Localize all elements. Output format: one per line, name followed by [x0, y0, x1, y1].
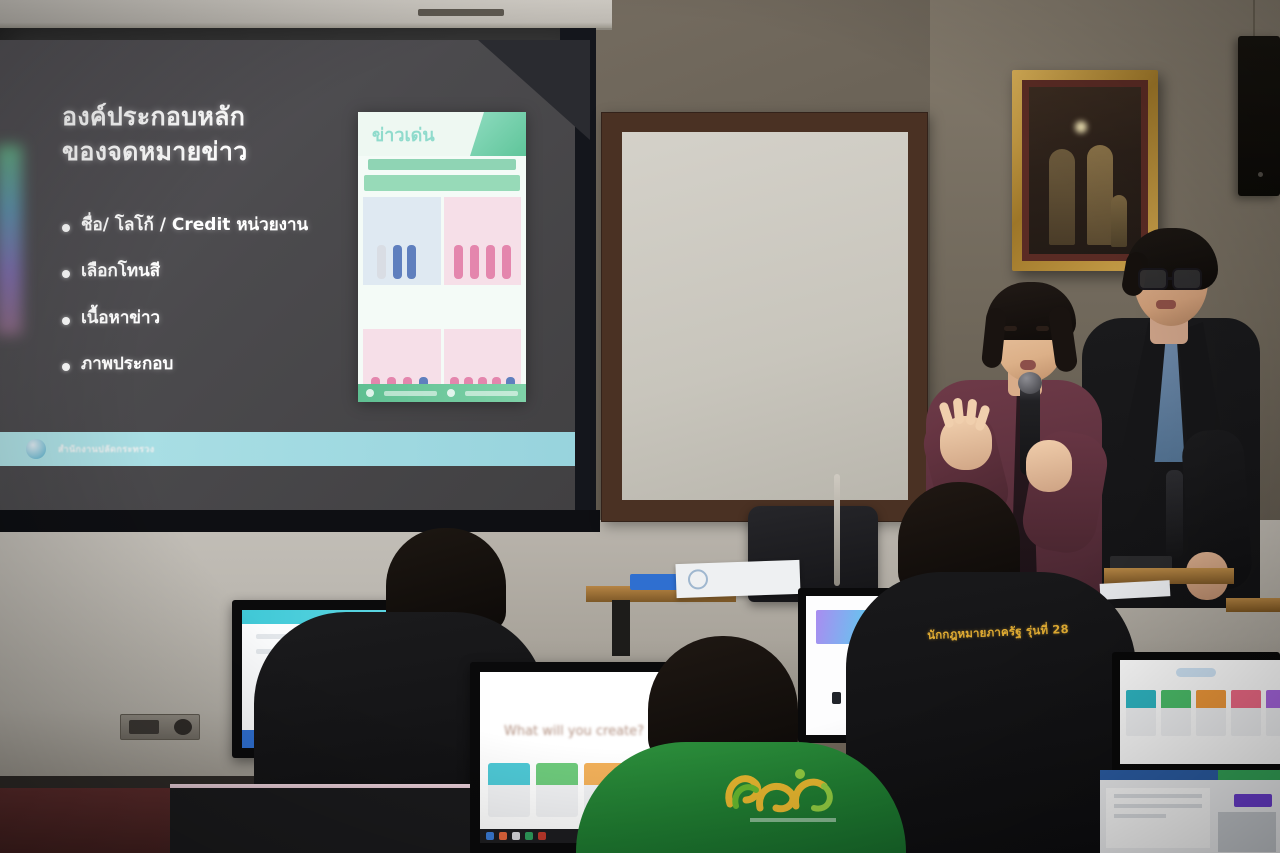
portrait-figure: [1111, 195, 1127, 247]
photo-figure: [393, 245, 402, 279]
footer-line: [384, 391, 437, 396]
search-pill[interactable]: [1176, 668, 1216, 677]
paper-stack: [675, 560, 800, 598]
document-line: [1114, 814, 1166, 818]
jacket-logo-icon: [716, 760, 866, 830]
slide-bullet-text: ภาพประกอบ: [81, 354, 173, 375]
newsletter-section-bar: [364, 175, 520, 191]
side-panel: [1218, 812, 1276, 852]
speaker-hand-right: [1026, 440, 1072, 492]
speaker-cable: [1253, 0, 1255, 38]
slide-bullet-item: เลือกโทนสี: [62, 261, 382, 282]
photo-figure: [470, 245, 479, 279]
slide-title-line-2: ของจดหมายข่าว: [62, 135, 362, 170]
monitor-5-screen[interactable]: [1100, 770, 1280, 853]
newsletter-divider: [368, 159, 516, 170]
photo-figure: [377, 245, 386, 279]
document-line: [1114, 804, 1202, 808]
slide-footer-band: สำนักงานปลัดกระทรวง: [0, 432, 575, 466]
template-card[interactable]: [1231, 690, 1261, 736]
taskbar-icon[interactable]: [512, 832, 520, 840]
bullet-dot-icon: [62, 363, 70, 371]
newsletter-photo-row: [358, 197, 526, 285]
co-presenter-mouth: [1156, 300, 1176, 309]
slide-bullet-item: ชื่อ/ โลโก้ / Credit หน่วยงาน: [62, 215, 382, 236]
microphone-icon: [1166, 470, 1183, 558]
projector-screen-valance: [0, 0, 612, 30]
newsletter-photo: [444, 197, 522, 285]
newsletter-photo: [363, 197, 441, 285]
slide-bullet-text: เลือกโทนสี: [81, 261, 160, 282]
document-line: [1114, 794, 1202, 798]
eyeglasses-icon: [1138, 268, 1168, 290]
slide-bullet-list: ชื่อ/ โลโก้ / Credit หน่วยงาน เลือกโทนสี…: [62, 215, 382, 400]
document-sheet: [1106, 788, 1210, 848]
eyeglasses-icon: [1172, 268, 1202, 290]
eyeglasses-bridge: [1168, 277, 1174, 280]
lens-prism-artifact: [0, 145, 22, 335]
portrait-highlight: [1075, 121, 1087, 133]
footer-icon: [366, 389, 374, 397]
canvas-element-icon: [832, 692, 841, 704]
slide-title: องค์ประกอบหลัก ของจดหมายข่าว: [62, 100, 362, 169]
newsletter-thumbnail: ข่าวเด่น: [358, 112, 526, 402]
primary-action-button[interactable]: [1234, 794, 1272, 807]
portrait-artwork: [1029, 87, 1141, 254]
template-card[interactable]: [488, 763, 530, 817]
slide-bullet-item: ภาพประกอบ: [62, 354, 382, 375]
photo-figure: [454, 245, 463, 279]
monitor-4-screen[interactable]: [1120, 660, 1280, 764]
photo-figure: [407, 245, 416, 279]
speaker-mouth: [1020, 360, 1036, 370]
far-desk: [1226, 598, 1280, 612]
speaker-eye: [1004, 326, 1017, 331]
bullet-dot-icon: [62, 270, 70, 278]
newsletter-title: ข่าวเด่น: [372, 120, 435, 149]
taskbar-icon[interactable]: [538, 832, 546, 840]
speaker-hand-left: [940, 416, 992, 470]
newsletter-header-shape: [470, 112, 526, 156]
taskbar-icon[interactable]: [499, 832, 507, 840]
wall-outlet: [120, 714, 200, 740]
template-card[interactable]: [536, 763, 578, 817]
outlet-power-jack: [174, 719, 192, 735]
newsletter-spacer: [358, 285, 526, 329]
newsletter-footer: [358, 384, 526, 402]
slide-bullet-item: เนื้อหาข่าว: [62, 308, 382, 329]
seminar-photo: องค์ประกอบหลัก ของจดหมายข่าว ชื่อ/ โลโก้…: [0, 0, 1280, 853]
template-card[interactable]: [1266, 690, 1280, 736]
photo-figure: [486, 245, 495, 279]
taskbar-icon[interactable]: [486, 832, 494, 840]
front-desk-leg: [612, 600, 630, 656]
footer-line: [465, 391, 518, 396]
speaker-led-icon: [1258, 172, 1263, 177]
template-card[interactable]: [1126, 690, 1156, 736]
slide-bullet-text: ชื่อ/ โลโก้ / Credit หน่วยงาน: [81, 215, 308, 236]
newsletter-header: ข่าวเด่น: [358, 112, 526, 156]
footer-icon: [447, 389, 455, 397]
blue-folder: [630, 574, 678, 590]
portrait-figure: [1087, 145, 1113, 245]
outlet-data-jack: [129, 720, 159, 734]
speaker-eye: [1036, 326, 1049, 331]
paper-ring-mark: [688, 569, 709, 590]
bullet-dot-icon: [62, 224, 70, 232]
organization-logo-icon: [26, 439, 46, 459]
bullet-dot-icon: [62, 317, 70, 325]
slide-title-line-1: องค์ประกอบหลัก: [62, 100, 362, 135]
window-accent-bar: [1218, 770, 1280, 780]
valance-slot: [418, 9, 504, 16]
portrait-figure: [1049, 149, 1075, 245]
template-card[interactable]: [1196, 690, 1226, 736]
taskbar-icon[interactable]: [525, 832, 533, 840]
slide-bullet-text: เนื้อหาข่าว: [81, 308, 160, 329]
microphone-stand: [834, 474, 840, 586]
foreground-desk-body: [170, 788, 470, 853]
microphone-head-icon: [1018, 372, 1042, 394]
template-thumbnail-row: [1126, 690, 1280, 736]
slide-footer-text: สำนักงานปลัดกระทรวง: [58, 442, 155, 456]
whiteboard-surface: [622, 132, 908, 500]
photo-figure: [502, 245, 511, 279]
template-card[interactable]: [1161, 690, 1191, 736]
screen-bottom-edge: [0, 510, 600, 532]
